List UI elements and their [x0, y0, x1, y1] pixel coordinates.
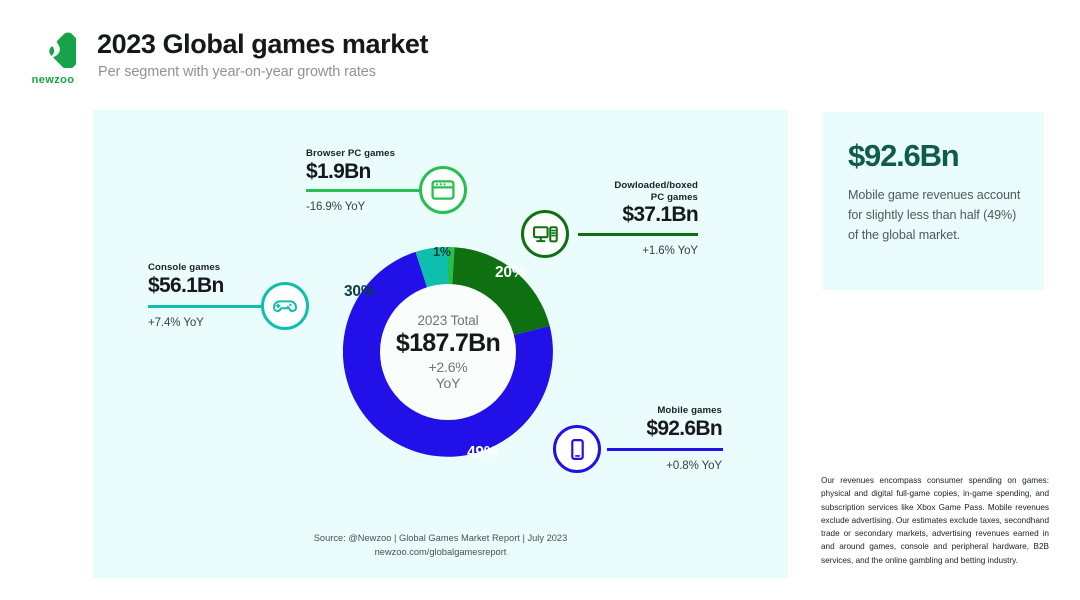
icon-bubble-mobile-games	[553, 425, 601, 473]
callout-browser-pc-games: Browser PC games $1.9Bn	[306, 148, 426, 184]
callout-mobile-games: Mobile games $92.6Bn	[600, 405, 722, 441]
callout-label-console-games: Console games	[148, 262, 273, 274]
highlight-value: $92.6Bn	[848, 138, 1022, 174]
icon-bubble-console-games	[261, 282, 309, 330]
callout-yoy-console-games: +7.4% YoY	[148, 317, 204, 329]
newzoo-diamond-logo-icon	[30, 22, 76, 68]
slice-pct-downloaded-boxed-pc-games: 20%	[495, 264, 525, 282]
brand-logo: newzoo	[20, 22, 86, 86]
methodology-footnote: Our revenues encompass consumer spending…	[821, 474, 1049, 567]
center-total-label: 2023 Total	[417, 313, 478, 328]
callout-label-downloaded-boxed-pc-games: Dowloaded/boxedPC games	[570, 180, 698, 203]
connector-browser-pc-games	[306, 189, 420, 192]
smartphone-icon	[565, 437, 590, 462]
desktop-computer-icon	[532, 221, 559, 248]
center-growth: +2.6%YoY	[428, 360, 467, 391]
source-note: Source: @Newzoo | Global Games Market Re…	[93, 531, 788, 560]
highlight-text: Mobile game revenues account for slightl…	[848, 186, 1022, 246]
callout-yoy-mobile-games: +0.8% YoY	[600, 460, 722, 472]
callout-label-browser-pc-games: Browser PC games	[306, 148, 426, 160]
callout-yoy-browser-pc-games: -16.9% YoY	[306, 201, 365, 213]
callout-value-console-games: $56.1Bn	[148, 274, 273, 299]
gamepad-icon	[271, 292, 299, 320]
callout-console-games: Console games $56.1Bn	[148, 262, 273, 298]
callout-value-downloaded-boxed-pc-games: $37.1Bn	[570, 203, 698, 228]
slice-pct-browser-pc-games: 1%	[433, 245, 451, 259]
callout-label-mobile-games: Mobile games	[600, 405, 722, 417]
center-total-value: $187.7Bn	[396, 330, 500, 356]
connector-mobile-games	[607, 448, 723, 451]
slice-pct-mobile-games: 49%	[467, 444, 497, 462]
brand-wordmark: newzoo	[20, 74, 86, 86]
source-line-2: newzoo.com/globalgamesreport	[93, 545, 788, 559]
connector-console-games	[148, 305, 262, 308]
callout-yoy-downloaded-boxed-pc-games: +1.6% YoY	[570, 245, 698, 257]
callout-downloaded-boxed-pc-games: Dowloaded/boxedPC games $37.1Bn	[570, 180, 698, 228]
connector-downloaded-boxed-pc-games	[578, 233, 698, 236]
page-subtitle: Per segment with year-on-year growth rat…	[98, 64, 376, 80]
browser-window-icon	[430, 177, 456, 203]
infographic-page: newzoo 2023 Global games market Per segm…	[0, 0, 1080, 600]
page-title: 2023 Global games market	[97, 29, 428, 60]
source-line-1: Source: @Newzoo | Global Games Market Re…	[93, 531, 788, 545]
slice-pct-console-games: 30%	[344, 283, 374, 301]
icon-bubble-downloaded-boxed-pc-games	[521, 210, 569, 258]
callout-value-mobile-games: $92.6Bn	[600, 417, 722, 442]
highlight-box: $92.6Bn Mobile game revenues account for…	[822, 112, 1044, 290]
icon-bubble-browser-pc-games	[419, 166, 467, 214]
callout-value-browser-pc-games: $1.9Bn	[306, 160, 426, 185]
